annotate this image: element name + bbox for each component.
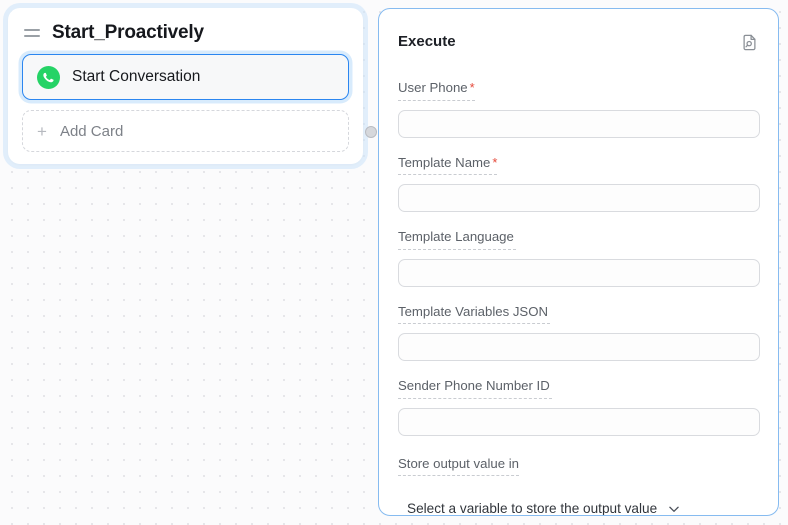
- field-label-text: Template Name: [398, 155, 490, 170]
- document-search-icon[interactable]: [740, 33, 759, 52]
- field-label-sender-phone-number-id: Sender Phone Number ID: [398, 378, 552, 399]
- template-variables-json-input[interactable]: [398, 333, 760, 361]
- field-label-text: User Phone: [398, 80, 468, 95]
- field-template-variables-json: Template Variables JSON: [398, 303, 759, 362]
- store-output-variable-value: Select a variable to store the output va…: [407, 501, 657, 516]
- flow-panel-header: Start_Proactively: [18, 16, 353, 54]
- field-sender-phone-number-id: Sender Phone Number ID: [398, 377, 759, 436]
- drag-handle-icon[interactable]: [24, 29, 40, 37]
- whatsapp-icon: [37, 66, 60, 89]
- chevron-down-icon: [667, 502, 681, 516]
- node-card-start-conversation[interactable]: Start Conversation: [22, 54, 349, 100]
- field-label-template-language: Template Language: [398, 229, 516, 250]
- field-label-store-output-value: Store output value in: [398, 456, 519, 477]
- field-label-text: Template Language: [398, 229, 514, 244]
- field-template-language: Template Language: [398, 228, 759, 287]
- field-label-text: Template Variables JSON: [398, 304, 548, 319]
- sender-phone-number-id-input[interactable]: [398, 408, 760, 436]
- field-label-user-phone: User Phone*: [398, 80, 475, 101]
- config-panel-title: Execute: [398, 33, 456, 50]
- template-name-input[interactable]: [398, 184, 760, 212]
- add-card-button[interactable]: + Add Card: [22, 110, 349, 152]
- field-label-template-variables-json: Template Variables JSON: [398, 304, 550, 325]
- connector-dot-icon[interactable]: [365, 126, 377, 138]
- store-output-variable-select[interactable]: Select a variable to store the output va…: [398, 501, 681, 516]
- user-phone-input[interactable]: [398, 110, 760, 138]
- template-language-input[interactable]: [398, 259, 760, 287]
- required-indicator: *: [470, 80, 475, 95]
- plus-icon: +: [37, 123, 47, 140]
- field-template-name: Template Name*: [398, 154, 759, 213]
- config-panel: Execute User Phone* Template Name* Templ…: [378, 8, 779, 516]
- add-card-label: Add Card: [60, 123, 123, 140]
- page-title: Start_Proactively: [52, 22, 204, 44]
- field-label-text: Sender Phone Number ID: [398, 378, 550, 393]
- field-store-output-value: Store output value in Select a variable …: [398, 455, 759, 517]
- field-label-template-name: Template Name*: [398, 155, 497, 176]
- config-panel-header: Execute: [398, 33, 759, 52]
- flow-panel: Start_Proactively Start Conversation + A…: [8, 8, 363, 164]
- field-user-phone: User Phone*: [398, 79, 759, 138]
- required-indicator: *: [492, 155, 497, 170]
- node-card-label: Start Conversation: [72, 68, 200, 86]
